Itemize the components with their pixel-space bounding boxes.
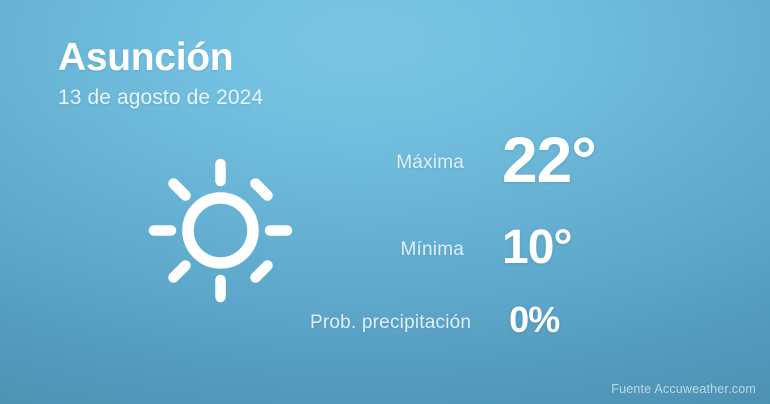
reading-value-precipitation: 0% (509, 302, 559, 338)
reading-row-precipitation: Prob. precipitación 0% (310, 302, 730, 364)
reading-value-min: 10° (502, 224, 572, 272)
sun-icon (148, 158, 293, 303)
city-name: Asunción (58, 38, 263, 78)
reading-row-min: Mínima 10° (310, 224, 730, 302)
sun-icon-graphic (148, 158, 293, 303)
forecast-date: 13 de agosto de 2024 (58, 86, 263, 110)
reading-label-max: Máxima (310, 152, 502, 174)
forecast-header: Asunción 13 de agosto de 2024 (58, 38, 263, 110)
readings-panel: Máxima 22° Mínima 10° Prob. precipitació… (310, 128, 730, 364)
reading-row-max: Máxima 22° (310, 128, 730, 224)
reading-label-precipitation: Prob. precipitación (310, 312, 509, 334)
source-credit: Fuente Accuweather.com (611, 382, 756, 396)
reading-value-max: 22° (502, 128, 596, 192)
weather-forecast-card: Asunción 13 de agosto de 2024 (0, 0, 770, 404)
reading-label-min: Mínima (310, 239, 502, 261)
